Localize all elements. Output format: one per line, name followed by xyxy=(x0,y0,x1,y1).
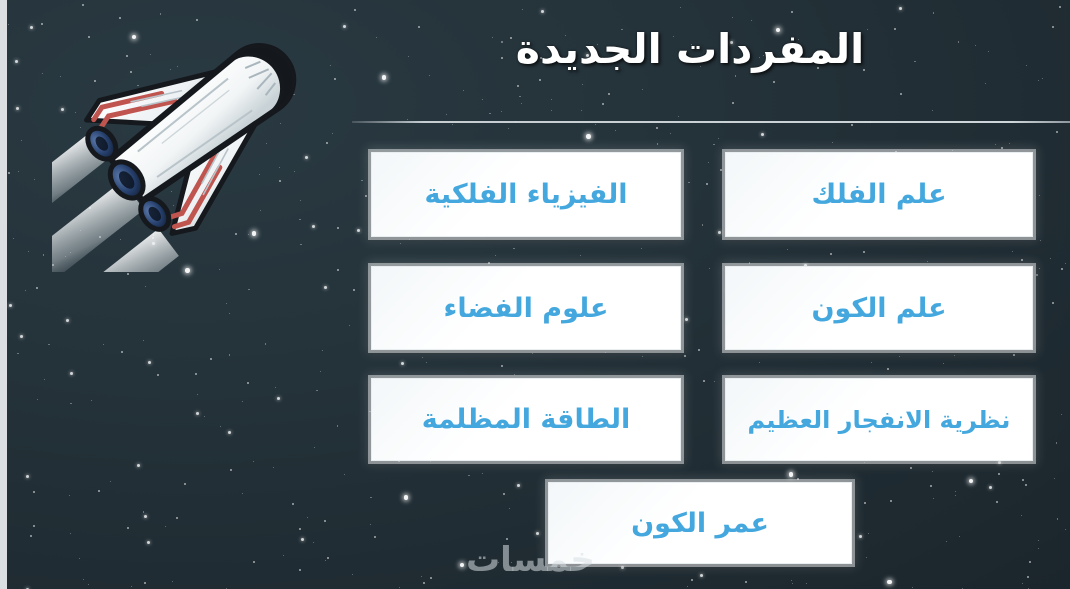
vocab-card-label: الطاقة المظلمة xyxy=(422,406,631,433)
vocab-card-label: عمر الكون xyxy=(631,510,769,537)
vocab-card-big-bang-theory[interactable]: نظرية الانفجار العظيم xyxy=(725,378,1033,461)
vocab-card-label: علوم الفضاء xyxy=(444,295,609,322)
slide-left-edge-strip xyxy=(0,0,7,589)
vocab-card-label: الفيزياء الفلكية xyxy=(424,181,627,208)
vocab-card-dark-energy[interactable]: الطاقة المظلمة xyxy=(371,378,681,461)
presentation-slide: المفردات الجديدة علم الفلك الفيزياء الفل… xyxy=(0,0,1070,589)
vocab-card-cosmology[interactable]: علم الكون xyxy=(725,266,1033,350)
vocabulary-card-grid: علم الفلك الفيزياء الفلكية علم الكون علو… xyxy=(0,0,1070,589)
vocab-card-space-sciences[interactable]: علوم الفضاء xyxy=(371,266,681,350)
vocab-card-label: نظرية الانفجار العظيم xyxy=(748,408,1011,432)
vocab-card-label: علم الفلك xyxy=(811,181,946,208)
vocab-card-age-of-universe[interactable]: عمر الكون xyxy=(548,482,852,564)
vocab-card-astrophysics[interactable]: الفيزياء الفلكية xyxy=(371,152,681,237)
vocab-card-astronomy[interactable]: علم الفلك xyxy=(725,152,1033,237)
vocab-card-label: علم الكون xyxy=(811,295,946,322)
